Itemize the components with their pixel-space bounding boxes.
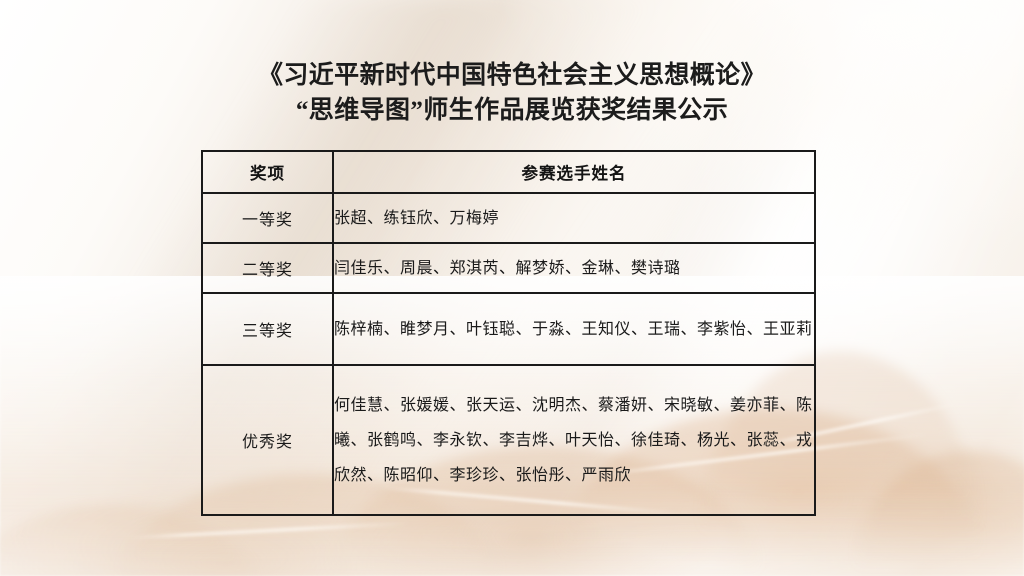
slide-content: 《习近平新时代中国特色社会主义思想概论》 “思维导图”师生作品展览获奖结果公示 … — [0, 0, 1024, 576]
table-header-row: 奖项 参赛选手姓名 — [202, 151, 815, 193]
award-names-second-prize: 闫佳乐、周晨、郑淇芮、解梦娇、金琳、樊诗璐 — [333, 243, 815, 293]
table-row: 三等奖 陈梓楠、睢梦月、叶钰聪、于淼、王知仪、王瑞、李紫怡、王亚莉 — [202, 293, 815, 365]
page-title: 《习近平新时代中国特色社会主义思想概论》 “思维导图”师生作品展览获奖结果公示 — [0, 58, 1024, 128]
award-names-excellence-prize: 何佳慧、张媛媛、张天运、沈明杰、蔡潘妍、宋晓敏、姜亦菲、陈曦、张鹤鸣、李永钦、李… — [333, 365, 815, 515]
table-row: 优秀奖 何佳慧、张媛媛、张天运、沈明杰、蔡潘妍、宋晓敏、姜亦菲、陈曦、张鹤鸣、李… — [202, 365, 815, 515]
award-names-first-prize: 张超、练钰欣、万梅婷 — [333, 193, 815, 243]
slide-canvas: 《习近平新时代中国特色社会主义思想概论》 “思维导图”师生作品展览获奖结果公示 … — [0, 0, 1024, 576]
award-label-excellence-prize: 优秀奖 — [202, 365, 333, 515]
award-label-second-prize: 二等奖 — [202, 243, 333, 293]
column-header-award: 奖项 — [202, 151, 333, 193]
column-header-names: 参赛选手姓名 — [333, 151, 815, 193]
award-names-third-prize: 陈梓楠、睢梦月、叶钰聪、于淼、王知仪、王瑞、李紫怡、王亚莉 — [333, 293, 815, 365]
award-label-third-prize: 三等奖 — [202, 293, 333, 365]
award-label-first-prize: 一等奖 — [202, 193, 333, 243]
award-results-table: 奖项 参赛选手姓名 一等奖 张超、练钰欣、万梅婷 二等奖 闫佳乐、周晨、郑淇芮、… — [201, 150, 816, 516]
page-title-line-2: “思维导图”师生作品展览获奖结果公示 — [0, 93, 1024, 128]
table-row: 一等奖 张超、练钰欣、万梅婷 — [202, 193, 815, 243]
table-row: 二等奖 闫佳乐、周晨、郑淇芮、解梦娇、金琳、樊诗璐 — [202, 243, 815, 293]
page-title-line-1: 《习近平新时代中国特色社会主义思想概论》 — [0, 58, 1024, 93]
